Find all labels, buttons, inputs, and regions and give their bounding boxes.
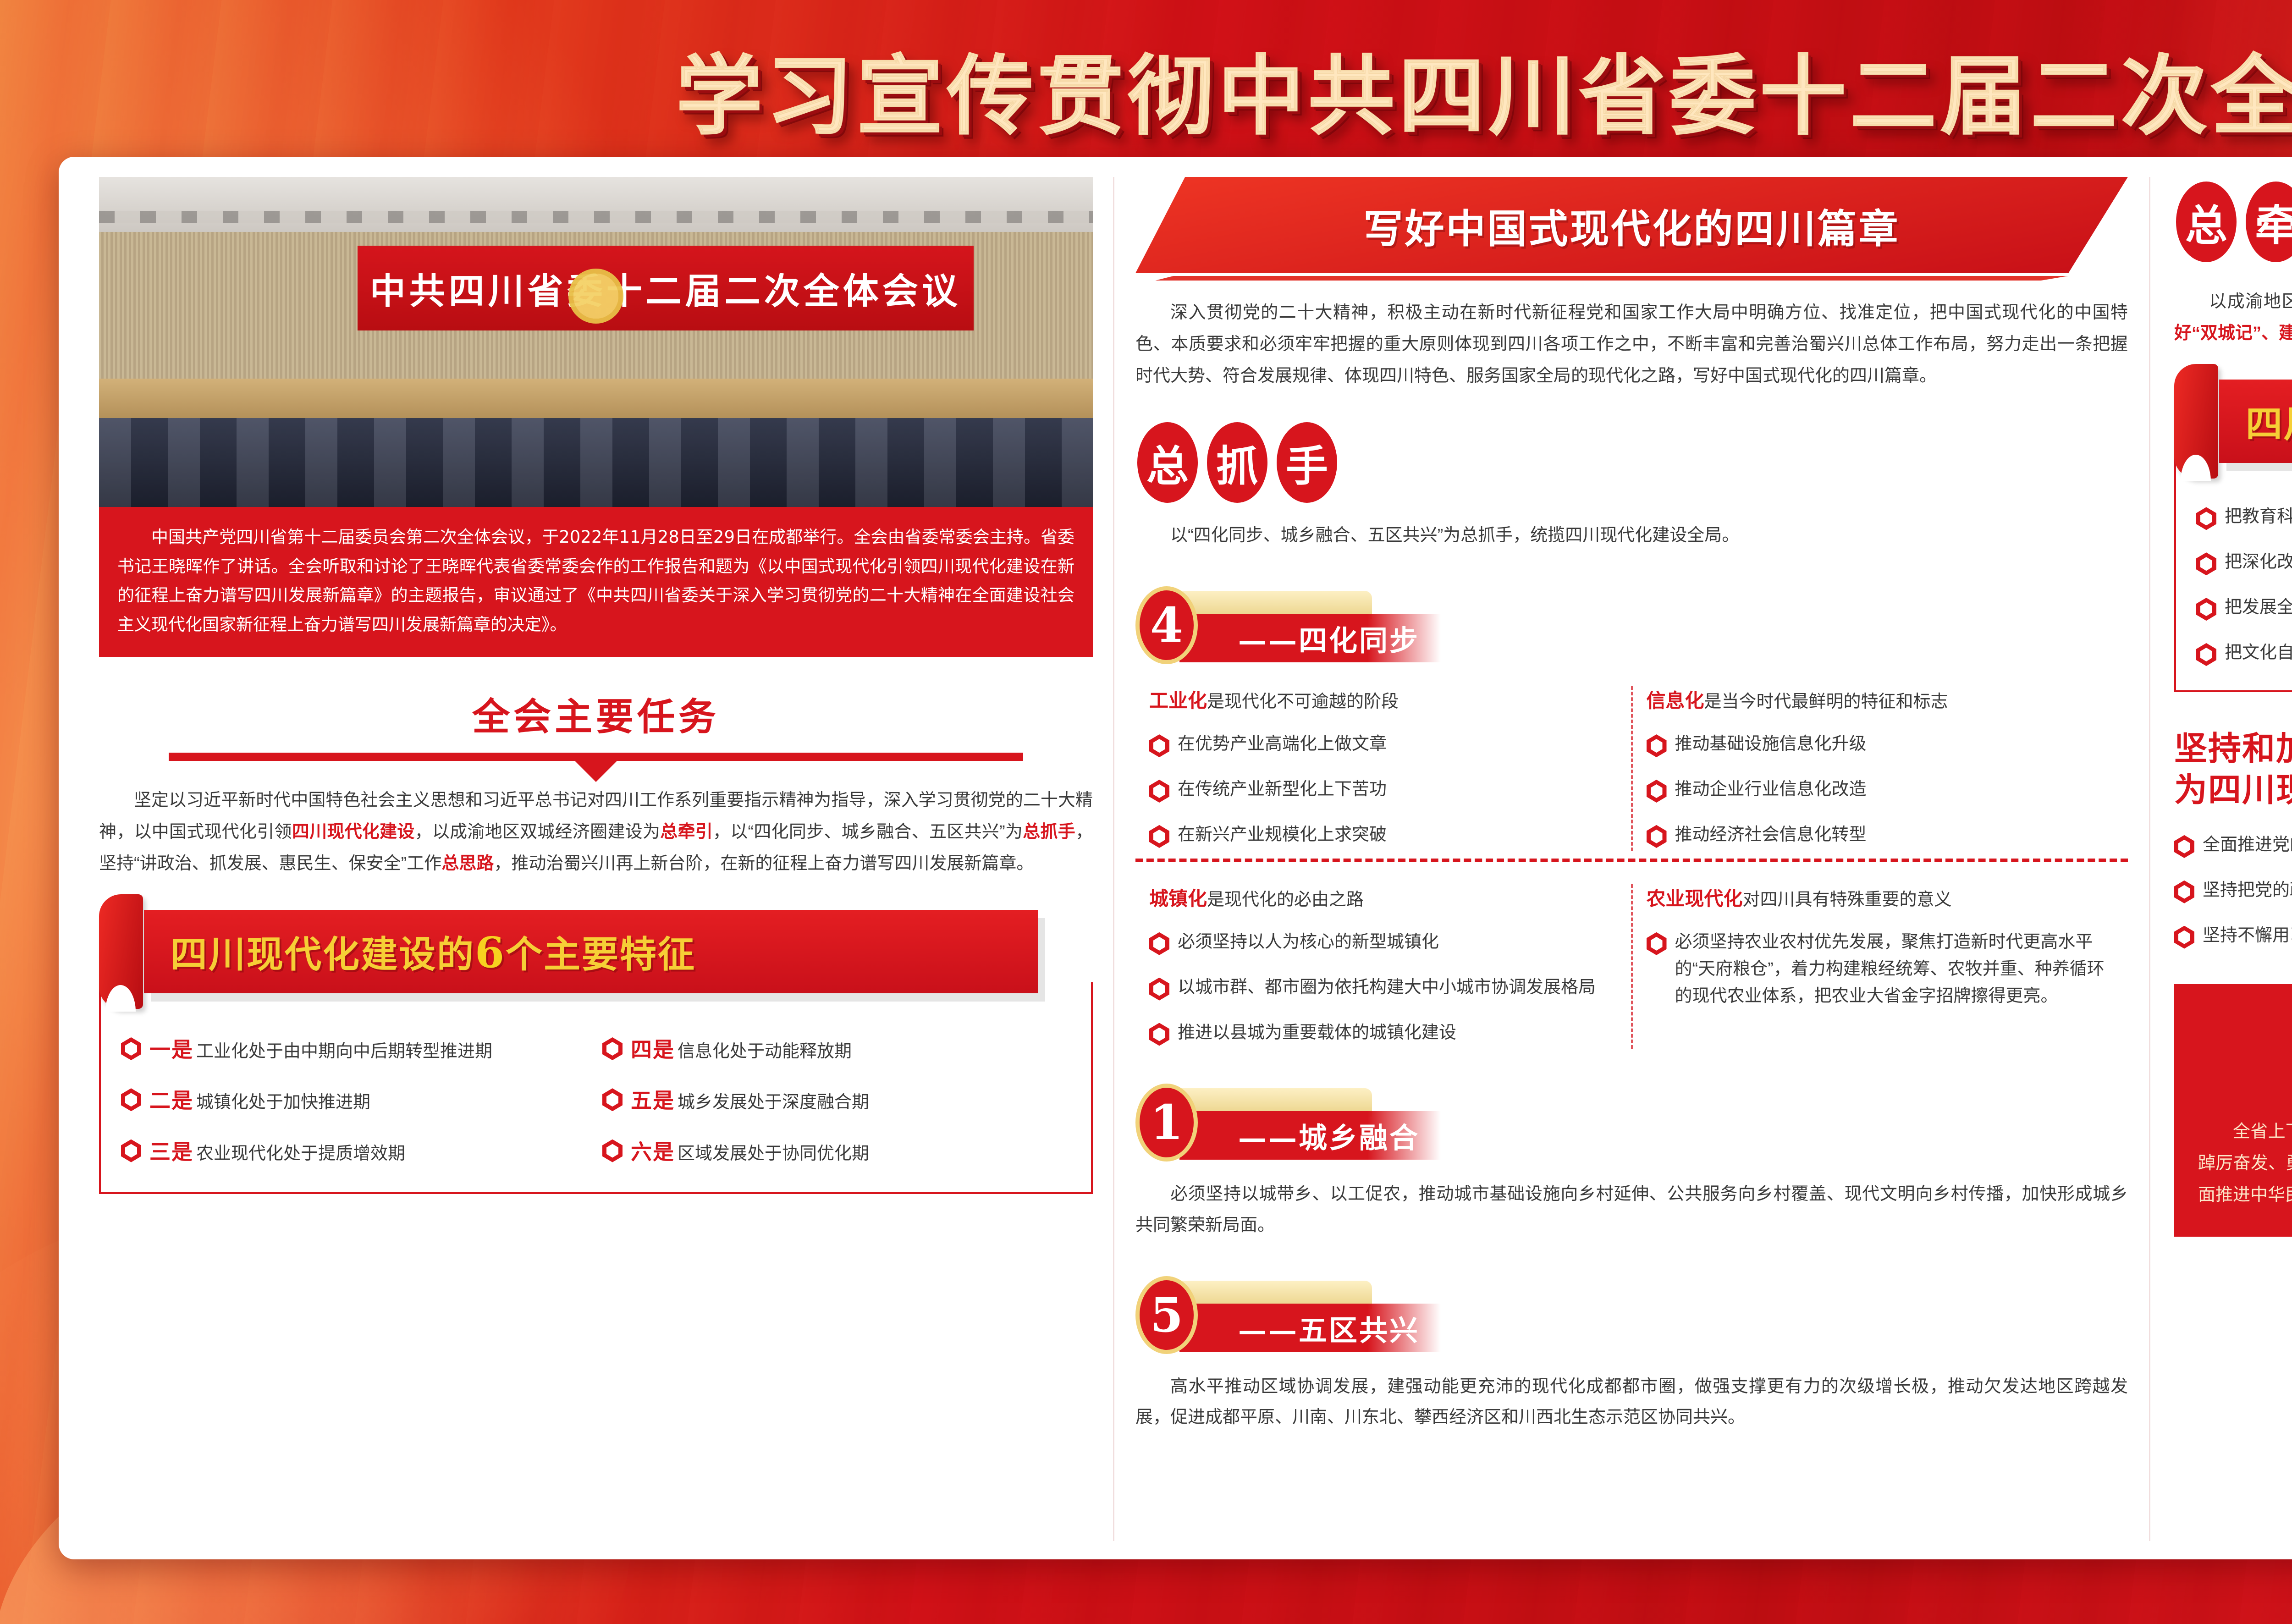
tasks-card-body: 把教育科技人才作为战略先导把深化改革扩大开放作为根本动力把发展全过程人民民主作为…	[2174, 452, 2292, 692]
party-emblem-icon	[568, 269, 623, 324]
features-list-left: 一是工业化处于由中期向中后期转型推进期二是城镇化处于加快推进期三是农业现代化处于…	[121, 1034, 590, 1171]
list-item: 把发展全过程人民民主作为重要保障	[2196, 594, 2292, 621]
content-board: 中共四川省委十二届二次全体会议 中国共产党四川省第十二届委员会第二次全体会议，于…	[59, 157, 2292, 1559]
zong-qian-yin-stamp: 总牵引	[2176, 182, 2292, 262]
list-item: 坚持不懈用习近平新时代中国特色社会主义思想凝心铸魂	[2174, 922, 2292, 949]
quadrant-lead-keyword: 工业化	[1149, 690, 1207, 711]
features-card-body: 一是工业化处于由中期向中后期转型推进期二是城镇化处于加快推进期三是农业现代化处于…	[99, 982, 1093, 1194]
hexagon-bullet-icon	[1149, 978, 1169, 1001]
heading-underline-bar	[169, 753, 1023, 761]
highlighted-phrase: 总牵引	[660, 822, 713, 842]
audience	[99, 418, 1093, 507]
quadrant-urbanization: 城镇化是现代化的必由之路必须坚持以人为核心的新型城镇化以城市群、都市圈为依托构建…	[1135, 884, 1633, 1049]
list-item: 全面推进党的自我净化、自我完善、自我革新、自我提高	[2174, 831, 2292, 859]
list-item: 推动经济社会信息化转型	[1647, 821, 2115, 848]
mid-banner-underline	[1155, 276, 2068, 281]
hexagon-bullet-icon	[602, 1140, 623, 1162]
features-list-right: 四是信息化处于动能释放期五是城乡发展处于深度融合期六是区域发展处于协同优化期	[602, 1034, 1071, 1171]
list-item-sequence: 五是	[631, 1088, 675, 1113]
zhuashou-text: 以“四化同步、城乡融合、五区共兴”为总抓手，统揽四川现代化建设全局。	[1135, 520, 2128, 551]
hexagon-bullet-icon	[121, 1088, 141, 1111]
quadrant-informatization: 信息化是当今时代最鲜明的特征和标志推动基础设施信息化升级推动企业行业信息化改造推…	[1633, 686, 2128, 851]
features-card-header: 四川现代化建设的6个主要特征	[127, 910, 1093, 993]
photo-caption: 中国共产党四川省第十二届委员会第二次全体会议，于2022年11月28日至29日在…	[99, 507, 1093, 657]
stamp-char-2: 抓	[1207, 422, 1267, 503]
list-item: 推动企业行业信息化改造	[1647, 776, 2115, 803]
list-item-label: 在传统产业新型化上下苦功	[1178, 776, 1387, 803]
list-item-label: 五是城乡发展处于深度融合期	[631, 1085, 869, 1117]
hexagon-bullet-icon	[2174, 926, 2194, 949]
list-item: 必须坚持以人为核心的新型城镇化	[1149, 929, 1617, 956]
list-item-label: 在优势产业高端化上做文章	[1178, 731, 1387, 758]
quadrant-lead-keyword: 城镇化	[1149, 888, 1207, 909]
stamp-char-1: 总	[1137, 422, 1198, 503]
hexagon-bullet-icon	[602, 1037, 623, 1060]
list-item: 三是农业现代化处于提质增效期	[121, 1136, 590, 1168]
list-item-label: 一是工业化处于由中期向中后期转型推进期	[149, 1034, 492, 1066]
block-4-header: ——四化同步 4	[1135, 586, 2128, 664]
highlighted-phrase: 总思路	[441, 854, 494, 873]
hexagon-bullet-icon	[2174, 881, 2194, 903]
right-column: 总牵引 以成渝地区双城经济圈建设作为四川现代化建设的总牵引，加强与重庆方面全方位…	[2149, 177, 2292, 1541]
block-1-label: ——城乡融合	[1238, 1115, 1420, 1156]
quadrant-agricultural-modernization: 农业现代化对四川具有特殊重要的意义必须坚持农业农村优先发展，聚焦打造新时代更高水…	[1633, 884, 2128, 1049]
main-task-heading: 全会主要任务	[99, 686, 1093, 741]
call-to-action-text: 全省上下要更加紧密地团结在以习近平同志为核心的党中央周围，全面贯彻落实党的二十大…	[2198, 1116, 2292, 1211]
list-item-label: 必须坚持以人为核心的新型城镇化	[1178, 929, 1439, 956]
main-task-text: 坚定以习近平新时代中国特色社会主义思想和习近平总书记对四川工作系列重要指示精神为…	[99, 785, 1093, 880]
list-item-label: 把发展全过程人民民主作为重要保障	[2225, 594, 2292, 621]
hexagon-bullet-icon	[602, 1088, 623, 1111]
quadrant-lead: 农业现代化对四川具有特殊重要的意义	[1647, 884, 2115, 913]
block-1-number: 1	[1135, 1084, 1198, 1162]
sihua-quadrant-bottom: 城镇化是现代化的必由之路必须坚持以人为核心的新型城镇化以城市群、都市圈为依托构建…	[1135, 884, 2128, 1049]
zong-zhua-shou-stamp: 总抓手	[1137, 422, 2128, 503]
features-card-title-plate: 四川现代化建设的6个主要特征	[144, 910, 1038, 993]
list-item-label: 坚持不懈用习近平新时代中国特色社会主义思想凝心铸魂	[2203, 922, 2292, 949]
call-to-action-card: 全会号召 全省上下要更加紧密地团结在以习近平同志为核心的党中央周围，全面贯彻落实…	[2174, 984, 2292, 1237]
list-item: 五是城乡发展处于深度融合期	[602, 1085, 1071, 1117]
block-1-header: ——城乡融合 1	[1135, 1084, 2128, 1162]
scroll-curl-icon	[2174, 364, 2218, 479]
quadrant-lead-keyword: 农业现代化	[1647, 888, 1743, 909]
list-item: 在新兴产业规模化上求突破	[1149, 821, 1617, 848]
stage-banner-text: 中共四川省委十二届二次全体会议	[370, 263, 961, 314]
list-item: 把教育科技人才作为战略先导	[2196, 503, 2292, 530]
hexagon-bullet-icon	[1149, 825, 1169, 848]
hexagon-bullet-icon	[2196, 643, 2216, 666]
hexagon-bullet-icon	[1647, 932, 1667, 955]
hexagon-bullet-icon	[2196, 598, 2216, 621]
list-item: 把文化自信自强作为持久精神力量	[2196, 639, 2292, 666]
list-item-sequence: 四是	[631, 1037, 675, 1062]
tasks-list-left: 把教育科技人才作为战略先导把深化改革扩大开放作为根本动力把发展全过程人民民主作为…	[2196, 503, 2292, 669]
quadrant-lead: 信息化是当今时代最鲜明的特征和标志	[1647, 686, 2115, 715]
list-item: 必须坚持农业农村优先发展，聚焦打造新时代更高水平的“天府粮仓”，着力构建粮经统筹…	[1647, 929, 2115, 1010]
tasks-card-title-plate: 四川现代化建设的7项重点任务	[2219, 380, 2292, 463]
highlighted-phrase: 四川现代化建设	[292, 822, 415, 842]
list-item: 六是区域发展处于协同优化期	[602, 1136, 1071, 1168]
party-leadership-title-line2: 为四川现代化建设提供坚强保证	[2174, 769, 2292, 810]
text-run: ，以“四化同步、城乡融合、五区共兴”为	[713, 822, 1023, 842]
middle-column: 写好中国式现代化的四川篇章 深入贯彻党的二十大精神，积极主动在新时代新征程党和国…	[1113, 177, 2149, 1541]
block-1-text: 必须坚持以城带乡、以工促农，推动城市基础设施向乡村延伸、公共服务向乡村覆盖、现代…	[1135, 1179, 2128, 1241]
list-item: 推进以县城为重要载体的城镇化建设	[1149, 1019, 1617, 1046]
list-item-sequence: 二是	[149, 1088, 193, 1113]
hexagon-bullet-icon	[2174, 835, 2194, 858]
list-item-label: 在新兴产业规模化上求突破	[1178, 821, 1387, 848]
heading-underline-arrow-icon	[575, 761, 617, 782]
conference-photo: 中共四川省委十二届二次全体会议	[99, 177, 1093, 507]
hexagon-bullet-icon	[1647, 734, 1667, 757]
list-item: 四是信息化处于动能释放期	[602, 1034, 1071, 1066]
block-5-red-bar: ——五区共兴	[1179, 1304, 1441, 1352]
mid-banner-title-text: 写好中国式现代化的四川篇章	[1364, 197, 1900, 254]
hexagon-bullet-icon	[1149, 780, 1169, 803]
hexagon-bullet-icon	[121, 1037, 141, 1060]
block-4-red-bar: ——四化同步	[1179, 614, 1441, 662]
list-item: 推动基础设施信息化升级	[1647, 731, 2115, 758]
stage-banner: 中共四川省委十二届二次全体会议	[358, 246, 974, 330]
scroll-curl-icon	[99, 894, 143, 1009]
list-item-label: 必须坚持农业农村优先发展，聚焦打造新时代更高水平的“天府粮仓”，着力构建粮经统筹…	[1675, 929, 2115, 1010]
party-leadership-lists: 全面推进党的自我净化、自我完善、自我革新、自我提高坚持把党的政治建设摆在首位坚持…	[2174, 831, 2292, 952]
list-item: 以城市群、都市圈为依托构建大中小城市协调发展格局	[1149, 974, 1617, 1001]
stamp-char-1: 总	[2176, 182, 2237, 262]
list-item-label: 推动基础设施信息化升级	[1675, 731, 1867, 758]
party-leadership-list-left: 全面推进党的自我净化、自我完善、自我革新、自我提高坚持把党的政治建设摆在首位坚持…	[2174, 831, 2292, 952]
ceiling	[99, 177, 1093, 232]
party-leadership-title-line1: 坚持和加强党的全面领导	[2174, 728, 2292, 769]
list-item: 一是工业化处于由中期向中后期转型推进期	[121, 1034, 590, 1066]
quadrant-divider	[1135, 859, 2128, 862]
tasks-title-prefix: 四川现代化建设的	[2246, 402, 2292, 446]
list-item: 把深化改革扩大开放作为根本动力	[2196, 549, 2292, 576]
list-item-label: 把文化自信自强作为持久精神力量	[2225, 639, 2292, 666]
ceiling-lights	[99, 211, 1093, 223]
highlighted-phrase: 总抓手	[1023, 822, 1075, 842]
mid-banner-title: 写好中国式现代化的四川篇章	[1135, 177, 2128, 273]
hexagon-bullet-icon	[121, 1140, 141, 1162]
list-item-sequence: 一是	[149, 1037, 193, 1062]
list-item-label: 以城市群、都市圈为依托构建大中小城市协调发展格局	[1178, 974, 1596, 1001]
list-item-sequence: 六是	[631, 1140, 675, 1164]
features-title-prefix: 四川现代化建设的	[171, 933, 475, 976]
mid-banner-body: 深入贯彻党的二十大精神，积极主动在新时代新征程党和国家工作大局中明确方位、找准定…	[1135, 297, 2128, 392]
hexagon-bullet-icon	[1149, 932, 1169, 955]
hexagon-bullet-icon	[1647, 780, 1667, 803]
features-title-number: 6	[475, 928, 506, 977]
text-run: 以成渝地区双城经济圈建设作为四川现代化建设的总牵引，	[2209, 292, 2292, 311]
left-column: 中共四川省委十二届二次全体会议 中国共产党四川省第十二届委员会第二次全体会议，于…	[77, 177, 1113, 1541]
list-item: 在传统产业新型化上下苦功	[1149, 776, 1617, 803]
sihua-quadrant-top: 工业化是现代化不可逾越的阶段在优势产业高端化上做文章在传统产业新型化上下苦功在新…	[1135, 686, 2128, 851]
list-item-label: 四是信息化处于动能释放期	[631, 1034, 852, 1066]
list-item-label: 坚持把党的政治建设摆在首位	[2203, 877, 2292, 904]
list-item: 二是城镇化处于加快推进期	[121, 1085, 590, 1117]
party-leadership-title: 坚持和加强党的全面领导 为四川现代化建设提供坚强保证	[2174, 728, 2292, 810]
quadrant-industrialization: 工业化是现代化不可逾越的阶段在优势产业高端化上做文章在传统产业新型化上下苦功在新…	[1135, 686, 1633, 851]
list-item-label: 把深化改革扩大开放作为根本动力	[2225, 549, 2292, 576]
quadrant-lead: 城镇化是现代化的必由之路	[1149, 884, 1617, 913]
features-title-suffix: 个主要特征	[506, 933, 696, 976]
text-run: ，推动治蜀兴川再上新台阶，在新的征程上奋力谱写四川发展新篇章。	[494, 854, 1034, 873]
hexagon-bullet-icon	[2196, 552, 2216, 575]
block-5-label: ——五区共兴	[1238, 1307, 1420, 1349]
block-5-header: ——五区共兴 5	[1135, 1276, 2128, 1354]
stamp-char-3: 手	[1277, 422, 1337, 503]
mid-banner-shape: 写好中国式现代化的四川篇章	[1135, 177, 2128, 273]
hexagon-bullet-icon	[1149, 1023, 1169, 1046]
list-item-label: 推动经济社会信息化转型	[1675, 821, 1867, 848]
list-item-label: 推动企业行业信息化改造	[1675, 776, 1867, 803]
hexagon-bullet-icon	[1149, 734, 1169, 757]
hexagon-bullet-icon	[2196, 507, 2216, 530]
tasks-card: 四川现代化建设的7项重点任务 把教育科技人才作为战略先导把深化改革扩大开放作为根…	[2174, 380, 2292, 692]
stage-floor	[99, 379, 1093, 418]
quadrant-lead: 工业化是现代化不可逾越的阶段	[1149, 686, 1617, 715]
list-item-label: 把教育科技人才作为战略先导	[2225, 503, 2292, 530]
block-5-number: 5	[1135, 1276, 1198, 1354]
page-title: 学习宣传贯彻中共四川省委十二届二次全会精神	[676, 53, 2292, 139]
list-item-label: 六是区域发展处于协同优化期	[631, 1136, 869, 1168]
list-item: 坚持把党的政治建设摆在首位	[2174, 877, 2292, 904]
block-5-text: 高水平推动区域协调发展，建强动能更充沛的现代化成都都市圈，做强支撑更有力的次级增…	[1135, 1371, 2128, 1433]
features-card: 四川现代化建设的6个主要特征 一是工业化处于由中期向中后期转型推进期二是城镇化处…	[99, 910, 1093, 1194]
stamp-char-2: 牵	[2246, 182, 2292, 262]
list-item-sequence: 三是	[149, 1140, 193, 1164]
text-run: ，以成渝地区双城经济圈建设为	[415, 822, 661, 842]
list-item: 在优势产业高端化上做文章	[1149, 731, 1617, 758]
block-1-red-bar: ——城乡融合	[1179, 1111, 1441, 1160]
tasks-card-header: 四川现代化建设的7项重点任务	[2203, 380, 2292, 463]
list-item-label: 全面推进党的自我净化、自我完善、自我革新、自我提高	[2203, 831, 2292, 859]
block-4-label: ——四化同步	[1238, 617, 1420, 659]
heading-underline	[169, 753, 1023, 761]
conference-photo-block: 中共四川省委十二届二次全体会议 中国共产党四川省第十二届委员会第二次全体会议，于…	[99, 177, 1093, 657]
list-item-label: 三是农业现代化处于提质增效期	[149, 1136, 405, 1168]
qianyin-text: 以成渝地区双城经济圈建设作为四川现代化建设的总牵引，加强与重庆方面全方位协作，在…	[2174, 286, 2292, 349]
block-4-number: 4	[1135, 586, 1198, 664]
list-item-label: 推进以县城为重要载体的城镇化建设	[1178, 1019, 1456, 1046]
list-item-label: 二是城镇化处于加快推进期	[149, 1085, 370, 1117]
hexagon-bullet-icon	[1647, 825, 1667, 848]
quadrant-lead-keyword: 信息化	[1647, 690, 1704, 711]
